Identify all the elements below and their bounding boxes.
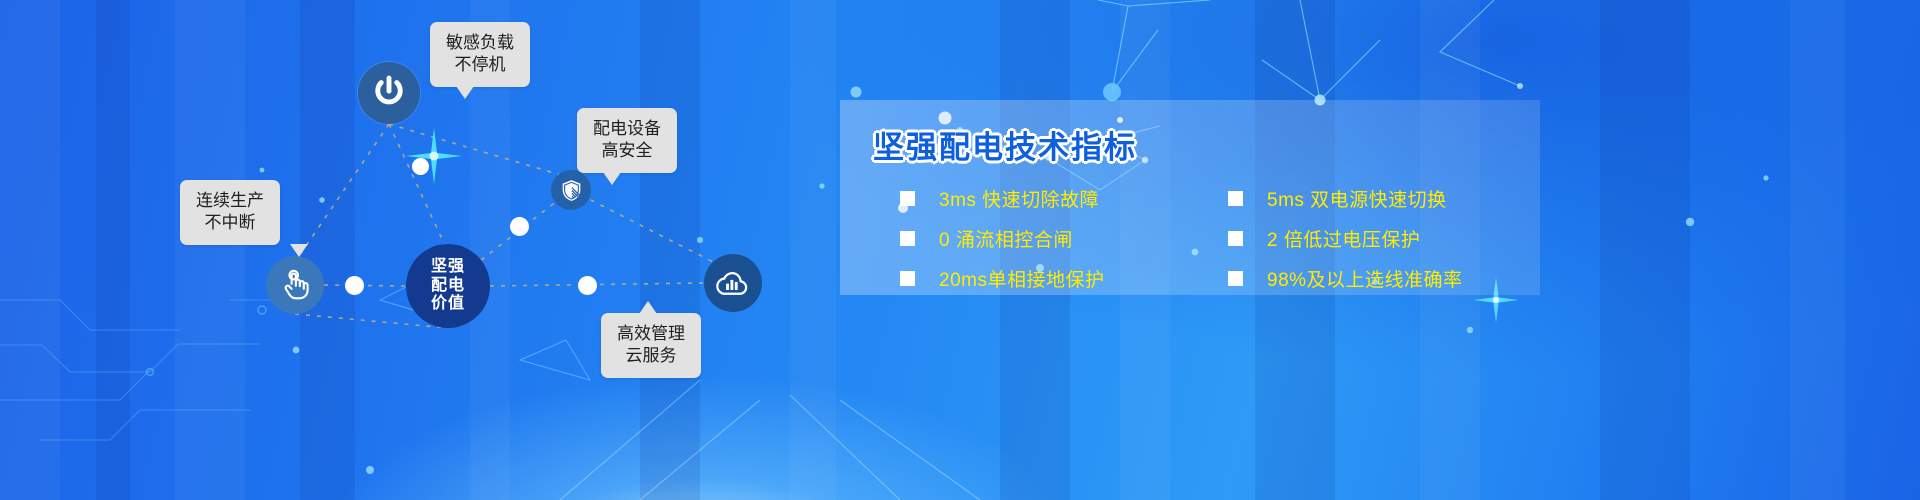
spec-label: 3ms 快速切除故障 — [939, 185, 1099, 212]
callout-sensitive-load[interactable]: 敏感负载 不停机 — [430, 22, 530, 87]
center-node-value[interactable]: 坚强 配电 价值 — [406, 244, 490, 328]
callout-tail — [639, 301, 657, 314]
link-dot — [345, 276, 364, 295]
center-label-line3: 价值 — [431, 295, 465, 313]
callout-line2: 不中断 — [196, 212, 264, 234]
callout-continuous-production[interactable]: 连续生产 不中断 — [180, 180, 280, 245]
link-dot — [510, 217, 529, 236]
sparkle-icon — [404, 126, 464, 186]
banner-stage: 坚强 配电 价值 敏感负载 不停机 配电设备 高安全 连续生产 不中断 高效管理… — [0, 0, 1920, 500]
callout-line2: 高安全 — [593, 140, 661, 162]
spec-panel: 坚强配电技术指标 3ms 快速切除故障 5ms 双电源快速切换 0 涌流相控合闸… — [840, 100, 1540, 295]
hand-pointer-icon — [278, 268, 312, 302]
square-bullet-icon — [900, 271, 915, 286]
square-bullet-icon — [1228, 231, 1243, 246]
callout-tail — [456, 86, 474, 99]
shield-icon — [559, 178, 584, 203]
node-power[interactable] — [358, 62, 420, 124]
callout-cloud-service[interactable]: 高效管理 云服务 — [601, 313, 701, 378]
bar-chart-cloud-icon — [715, 265, 751, 301]
link-dot — [412, 158, 429, 175]
stripe — [175, 0, 245, 500]
node-shield[interactable] — [551, 170, 591, 210]
spec-item[interactable]: 98%及以上选线准确率 — [1228, 258, 1528, 298]
callout-line1: 配电设备 — [593, 118, 661, 140]
stripe — [300, 0, 355, 500]
link-dot — [578, 276, 597, 295]
spec-list: 3ms 快速切除故障 5ms 双电源快速切换 0 涌流相控合闸 2 倍低过电压保… — [900, 178, 1530, 298]
spec-label: 0 涌流相控合闸 — [939, 225, 1073, 252]
square-bullet-icon — [1228, 271, 1243, 286]
stripe — [640, 0, 700, 500]
callout-tail — [603, 172, 621, 185]
spec-label: 20ms单相接地保护 — [939, 265, 1104, 292]
spec-item[interactable]: 20ms单相接地保护 — [900, 258, 1200, 298]
spec-item[interactable]: 5ms 双电源快速切换 — [1228, 178, 1528, 218]
callout-line1: 连续生产 — [196, 190, 264, 212]
square-bullet-icon — [900, 231, 915, 246]
stripe — [0, 0, 60, 500]
callout-tail — [290, 244, 308, 257]
stripe — [790, 0, 836, 500]
stripe — [1790, 0, 1845, 500]
node-hand-pointer[interactable] — [266, 256, 324, 314]
power-icon — [370, 74, 408, 112]
callout-line1: 高效管理 — [617, 323, 685, 345]
callout-line1: 敏感负载 — [446, 32, 514, 54]
callout-line2: 云服务 — [617, 345, 685, 367]
stripe — [1600, 0, 1690, 500]
spec-label: 5ms 双电源快速切换 — [1267, 185, 1447, 212]
panel-title: 坚强配电技术指标 — [873, 122, 1137, 167]
callout-line2: 不停机 — [446, 54, 514, 76]
center-label-line1: 坚强 — [431, 258, 465, 276]
square-bullet-icon — [900, 191, 915, 206]
spec-item[interactable]: 2 倍低过电压保护 — [1228, 218, 1528, 258]
spec-label: 2 倍低过电压保护 — [1267, 225, 1420, 252]
center-node-label: 坚强 配电 价值 — [431, 258, 465, 313]
square-bullet-icon — [1228, 191, 1243, 206]
node-chart-cloud[interactable] — [704, 254, 762, 312]
spec-label: 98%及以上选线准确率 — [1267, 265, 1463, 292]
center-label-line2: 配电 — [431, 277, 465, 295]
spec-item[interactable]: 3ms 快速切除故障 — [900, 178, 1200, 218]
callout-equipment-safety[interactable]: 配电设备 高安全 — [577, 108, 677, 173]
stripe — [96, 0, 130, 500]
spec-item[interactable]: 0 涌流相控合闸 — [900, 218, 1200, 258]
